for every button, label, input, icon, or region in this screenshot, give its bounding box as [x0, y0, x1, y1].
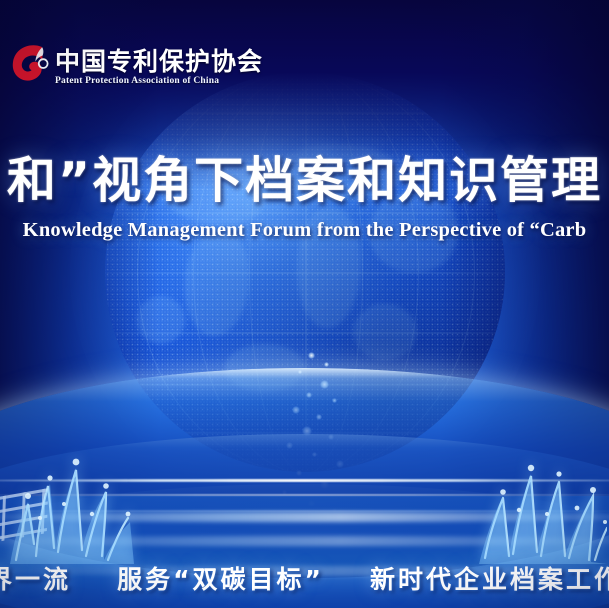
- logo-name-en: Patent Protection Association of China: [55, 77, 263, 87]
- water-splash-crown-left: [6, 452, 134, 564]
- headline-block: 和”视角下档案和知识管理 Knowledge Management Forum …: [0, 152, 609, 242]
- slogan-item-1: 界一流: [0, 560, 71, 596]
- page-title-en: Knowledge Management Forum from the Pers…: [0, 219, 609, 242]
- page-title-cn: 和”视角下档案和知识管理: [0, 152, 609, 210]
- slogan-item-2: 服务“双碳目标”: [117, 560, 324, 596]
- poster-canvas: 中国专利保护协会 Patent Protection Association o…: [0, 0, 609, 608]
- organization-logo: 中国专利保护协会 Patent Protection Association o…: [8, 38, 263, 86]
- slogan-item-3: 新时代企业档案工作: [370, 560, 609, 596]
- ppac-swoosh-logo-icon: [8, 38, 52, 86]
- water-splash-crown-right: [479, 452, 607, 564]
- bottom-slogan: 界一流 服务“双碳目标” 新时代企业档案工作: [0, 560, 609, 596]
- logo-name-cn: 中国专利保护协会: [55, 49, 263, 74]
